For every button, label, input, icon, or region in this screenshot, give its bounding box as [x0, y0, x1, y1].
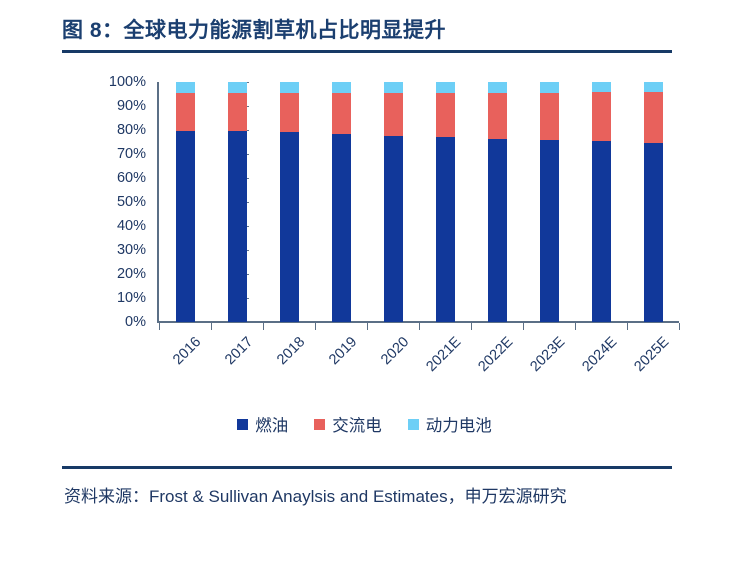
y-axis-tick-label: 30% — [92, 242, 146, 258]
bar-segment — [280, 132, 299, 322]
y-axis-tick-label: 10% — [92, 290, 146, 306]
x-axis-tick-label: 2023E — [517, 334, 568, 385]
y-axis-tick-label: 90% — [92, 98, 146, 114]
title-divider — [62, 50, 672, 53]
stacked-bar[interactable] — [228, 82, 247, 322]
legend-swatch-icon — [314, 419, 325, 430]
bar-slot — [419, 82, 471, 322]
x-axis-tick-label: 2021E — [413, 334, 464, 385]
legend-item[interactable]: 动力电池 — [408, 412, 492, 436]
bar-segment — [384, 136, 403, 322]
figure-title-block: 图 8：全球电力能源割草机占比明显提升 — [62, 16, 672, 53]
x-axis-tick-label: 2019 — [309, 334, 360, 385]
x-axis-tick-label: 2020 — [361, 334, 412, 385]
page-title: 图 8：全球电力能源割草机占比明显提升 — [62, 16, 672, 46]
x-axis-tick-label: 2017 — [205, 334, 256, 385]
bar-slot — [315, 82, 367, 322]
bar-slot — [159, 82, 211, 322]
stacked-bar[interactable] — [332, 82, 351, 322]
y-axis-tick-label: 20% — [92, 266, 146, 282]
y-axis-tick-label: 50% — [92, 194, 146, 210]
x-axis-tick-mark — [211, 323, 212, 330]
bar-segment — [176, 131, 195, 322]
footer-divider — [62, 466, 672, 469]
bar-segment — [228, 93, 247, 131]
x-axis-tick-mark — [679, 323, 680, 330]
bar-segment — [592, 92, 611, 141]
legend-label: 燃油 — [255, 412, 288, 436]
stacked-bar[interactable] — [644, 82, 663, 322]
bar-segment — [384, 82, 403, 93]
bar-segment — [332, 134, 351, 322]
y-axis-tick-label: 100% — [92, 74, 146, 90]
y-axis-tick-label: 0% — [92, 314, 146, 330]
bar-segment — [436, 93, 455, 137]
stacked-bar[interactable] — [488, 82, 507, 322]
bar-segment — [176, 93, 195, 131]
x-axis-tick-mark — [523, 323, 524, 330]
bar-segment — [280, 93, 299, 133]
stacked-bar[interactable] — [436, 82, 455, 322]
bars-group — [159, 82, 679, 322]
bar-slot — [523, 82, 575, 322]
x-axis-tick-mark — [367, 323, 368, 330]
legend-label: 动力电池 — [426, 412, 492, 436]
x-axis-tick-mark — [159, 323, 160, 330]
x-axis-tick-mark — [263, 323, 264, 330]
legend-item[interactable]: 燃油 — [237, 412, 288, 436]
bar-slot — [367, 82, 419, 322]
x-axis-tick-mark — [575, 323, 576, 330]
bar-segment — [280, 82, 299, 93]
bar-segment — [332, 93, 351, 134]
bar-segment — [176, 82, 195, 93]
bar-slot — [575, 82, 627, 322]
x-axis-tick-mark — [627, 323, 628, 330]
bar-segment — [592, 141, 611, 322]
bar-segment — [592, 82, 611, 92]
bar-segment — [436, 137, 455, 322]
legend-item[interactable]: 交流电 — [314, 412, 382, 436]
y-axis-tick-label: 70% — [92, 146, 146, 162]
bar-segment — [384, 93, 403, 136]
x-axis-tick-mark — [419, 323, 420, 330]
legend-swatch-icon — [408, 419, 419, 430]
x-axis-tick-label: 2024E — [569, 334, 620, 385]
y-axis-tick-label: 60% — [92, 170, 146, 186]
bar-segment — [644, 143, 663, 322]
chart-legend: 燃油交流电动力电池 — [0, 412, 729, 436]
chart-plot-area: 100%90%80%70%60%50%40%30%20%10%0% 201620… — [0, 62, 729, 412]
stacked-bar[interactable] — [540, 82, 559, 322]
y-axis: 100%90%80%70%60%50%40%30%20%10%0% — [92, 62, 146, 330]
bar-segment — [228, 82, 247, 93]
bar-slot — [211, 82, 263, 322]
y-axis-tick-label: 80% — [92, 122, 146, 138]
figure-container: 图 8：全球电力能源割草机占比明显提升 100%90%80%70%60%50%4… — [0, 0, 729, 574]
x-axis-tick-label: 2022E — [465, 334, 516, 385]
bar-segment — [540, 82, 559, 93]
y-axis-tick-label: 40% — [92, 218, 146, 234]
stacked-bar[interactable] — [384, 82, 403, 322]
bar-segment — [436, 82, 455, 93]
stacked-bar[interactable] — [592, 82, 611, 322]
stacked-bar[interactable] — [280, 82, 299, 322]
x-axis-tick-label: 2016 — [153, 334, 204, 385]
bar-segment — [228, 131, 247, 322]
bar-segment — [644, 92, 663, 143]
bar-segment — [644, 82, 663, 92]
bar-segment — [488, 139, 507, 322]
bar-segment — [488, 82, 507, 93]
bar-slot — [263, 82, 315, 322]
bar-segment — [332, 82, 351, 93]
x-axis-tick-mark — [471, 323, 472, 330]
x-axis-tick-label: 2025E — [621, 334, 672, 385]
x-axis-tick-label: 2018 — [257, 334, 308, 385]
legend-label: 交流电 — [332, 412, 382, 436]
bar-segment — [540, 93, 559, 140]
legend-swatch-icon — [237, 419, 248, 430]
bar-segment — [540, 140, 559, 322]
source-note: 资料来源：Frost & Sullivan Anaylsis and Estim… — [64, 480, 679, 514]
bar-slot — [471, 82, 523, 322]
bar-segment — [488, 93, 507, 139]
stacked-bar[interactable] — [176, 82, 195, 322]
x-axis-tick-mark — [315, 323, 316, 330]
bar-slot — [627, 82, 679, 322]
